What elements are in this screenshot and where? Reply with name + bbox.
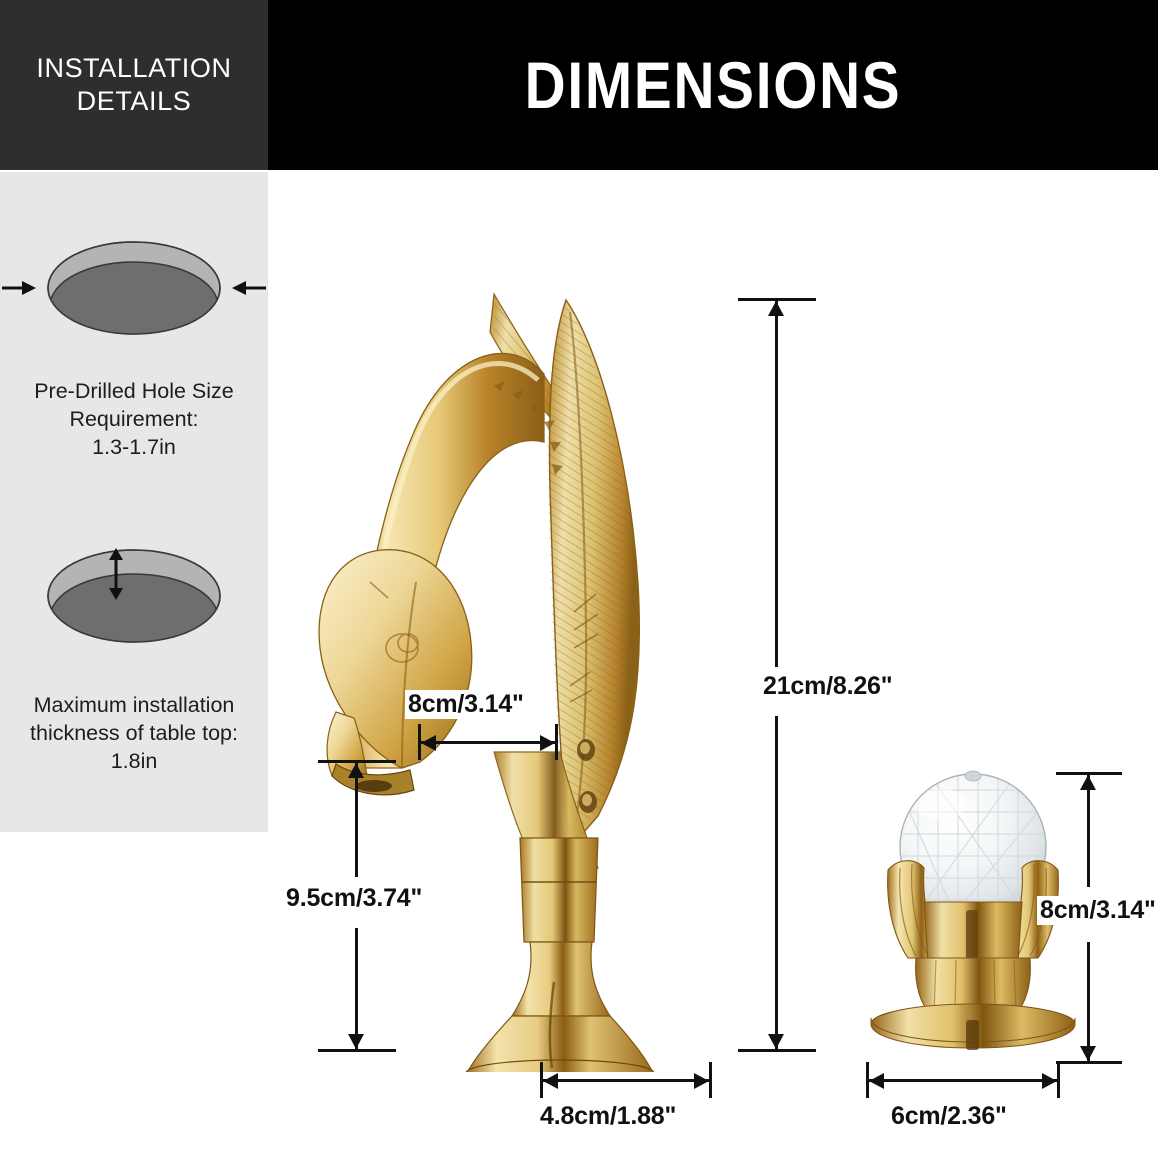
dim-cap-right	[1057, 1062, 1060, 1098]
dim-line-upper	[355, 763, 358, 877]
hole-diagram-svg	[0, 220, 268, 370]
dim-arrowhead-top	[348, 763, 364, 778]
drill-hole-ellipse-icon	[0, 220, 268, 370]
dim-line-lower	[355, 928, 358, 1049]
dim-arrowhead-left	[543, 1073, 558, 1089]
dim-arrowhead-left	[869, 1073, 884, 1089]
dim-cap-right	[555, 724, 558, 760]
header-bar: INSTALLATION DETAILS DIMENSIONS	[0, 0, 1158, 170]
dim-arrowhead-bottom	[768, 1034, 784, 1049]
dimension-base-width: 4.8cm/1.88"	[540, 1062, 712, 1098]
installation-details-label: INSTALLATION DETAILS	[30, 52, 237, 118]
thickness-diagram-svg	[0, 534, 268, 684]
dimension-base-width-label: 4.8cm/1.88"	[537, 1102, 679, 1131]
dimension-handle-width-label: 6cm/2.36"	[888, 1102, 1010, 1131]
dim-line-lower	[1087, 942, 1090, 1061]
dim-arrowhead-right	[1042, 1073, 1057, 1089]
dim-cap-bottom	[738, 1049, 816, 1052]
dim-line	[543, 1079, 709, 1082]
dim-line	[869, 1079, 1057, 1082]
page-title-text: DIMENSIONS	[525, 47, 902, 123]
dim-cap-bottom	[318, 1049, 396, 1052]
dimension-total-height: 21cm/8.26"	[738, 298, 816, 1052]
dim-arrowhead-bottom	[348, 1034, 364, 1049]
dimension-handle-height-label: 8cm/3.14"	[1037, 896, 1158, 925]
dim-arrowhead-left	[421, 735, 436, 751]
installation-details-badge: INSTALLATION DETAILS	[0, 0, 268, 170]
installation-sidebar: Pre-Drilled Hole Size Requirement: 1.3-1…	[0, 172, 268, 832]
dim-line-upper	[1087, 775, 1090, 887]
product-dimension-stage: 8cm/3.14" 21cm/8.26" 9.5cm/3.74"	[268, 172, 1158, 1154]
dim-arrowhead-top	[768, 301, 784, 316]
page-title: DIMENSIONS	[268, 0, 1158, 170]
table-thickness-ellipse-icon	[0, 534, 268, 684]
dim-arrowhead-right	[694, 1073, 709, 1089]
dim-line	[421, 741, 555, 744]
dimension-spout-height: 9.5cm/3.74"	[318, 760, 396, 1052]
dimension-total-height-label: 21cm/8.26"	[760, 672, 895, 701]
sidebar-item-table-thickness: Maximum installation thickness of table …	[0, 534, 268, 776]
dimensions-page: INSTALLATION DETAILS DIMENSIONS	[0, 0, 1158, 1154]
dim-arrowhead-top	[1080, 775, 1096, 790]
dimension-spout-reach-label: 8cm/3.14"	[405, 690, 527, 719]
dim-arrowhead-right	[540, 735, 555, 751]
dim-cap-right	[709, 1062, 712, 1098]
dimension-handle-width: 6cm/2.36"	[866, 1062, 1060, 1098]
dim-line-upper	[775, 301, 778, 667]
dimension-spout-reach: 8cm/3.14"	[418, 724, 558, 760]
dim-arrowhead-bottom	[1080, 1046, 1096, 1061]
sidebar-item-hole-size: Pre-Drilled Hole Size Requirement: 1.3-1…	[0, 220, 268, 462]
dimension-handle-height: 8cm/3.14"	[1056, 772, 1122, 1064]
dimension-spout-height-label: 9.5cm/3.74"	[283, 884, 425, 913]
dim-line-lower	[775, 716, 778, 1049]
sidebar-item-hole-size-label: Pre-Drilled Hole Size Requirement: 1.3-1…	[0, 378, 268, 462]
sidebar-item-table-thickness-label: Maximum installation thickness of table …	[0, 692, 268, 776]
dim-cap-bottom	[1056, 1061, 1122, 1064]
